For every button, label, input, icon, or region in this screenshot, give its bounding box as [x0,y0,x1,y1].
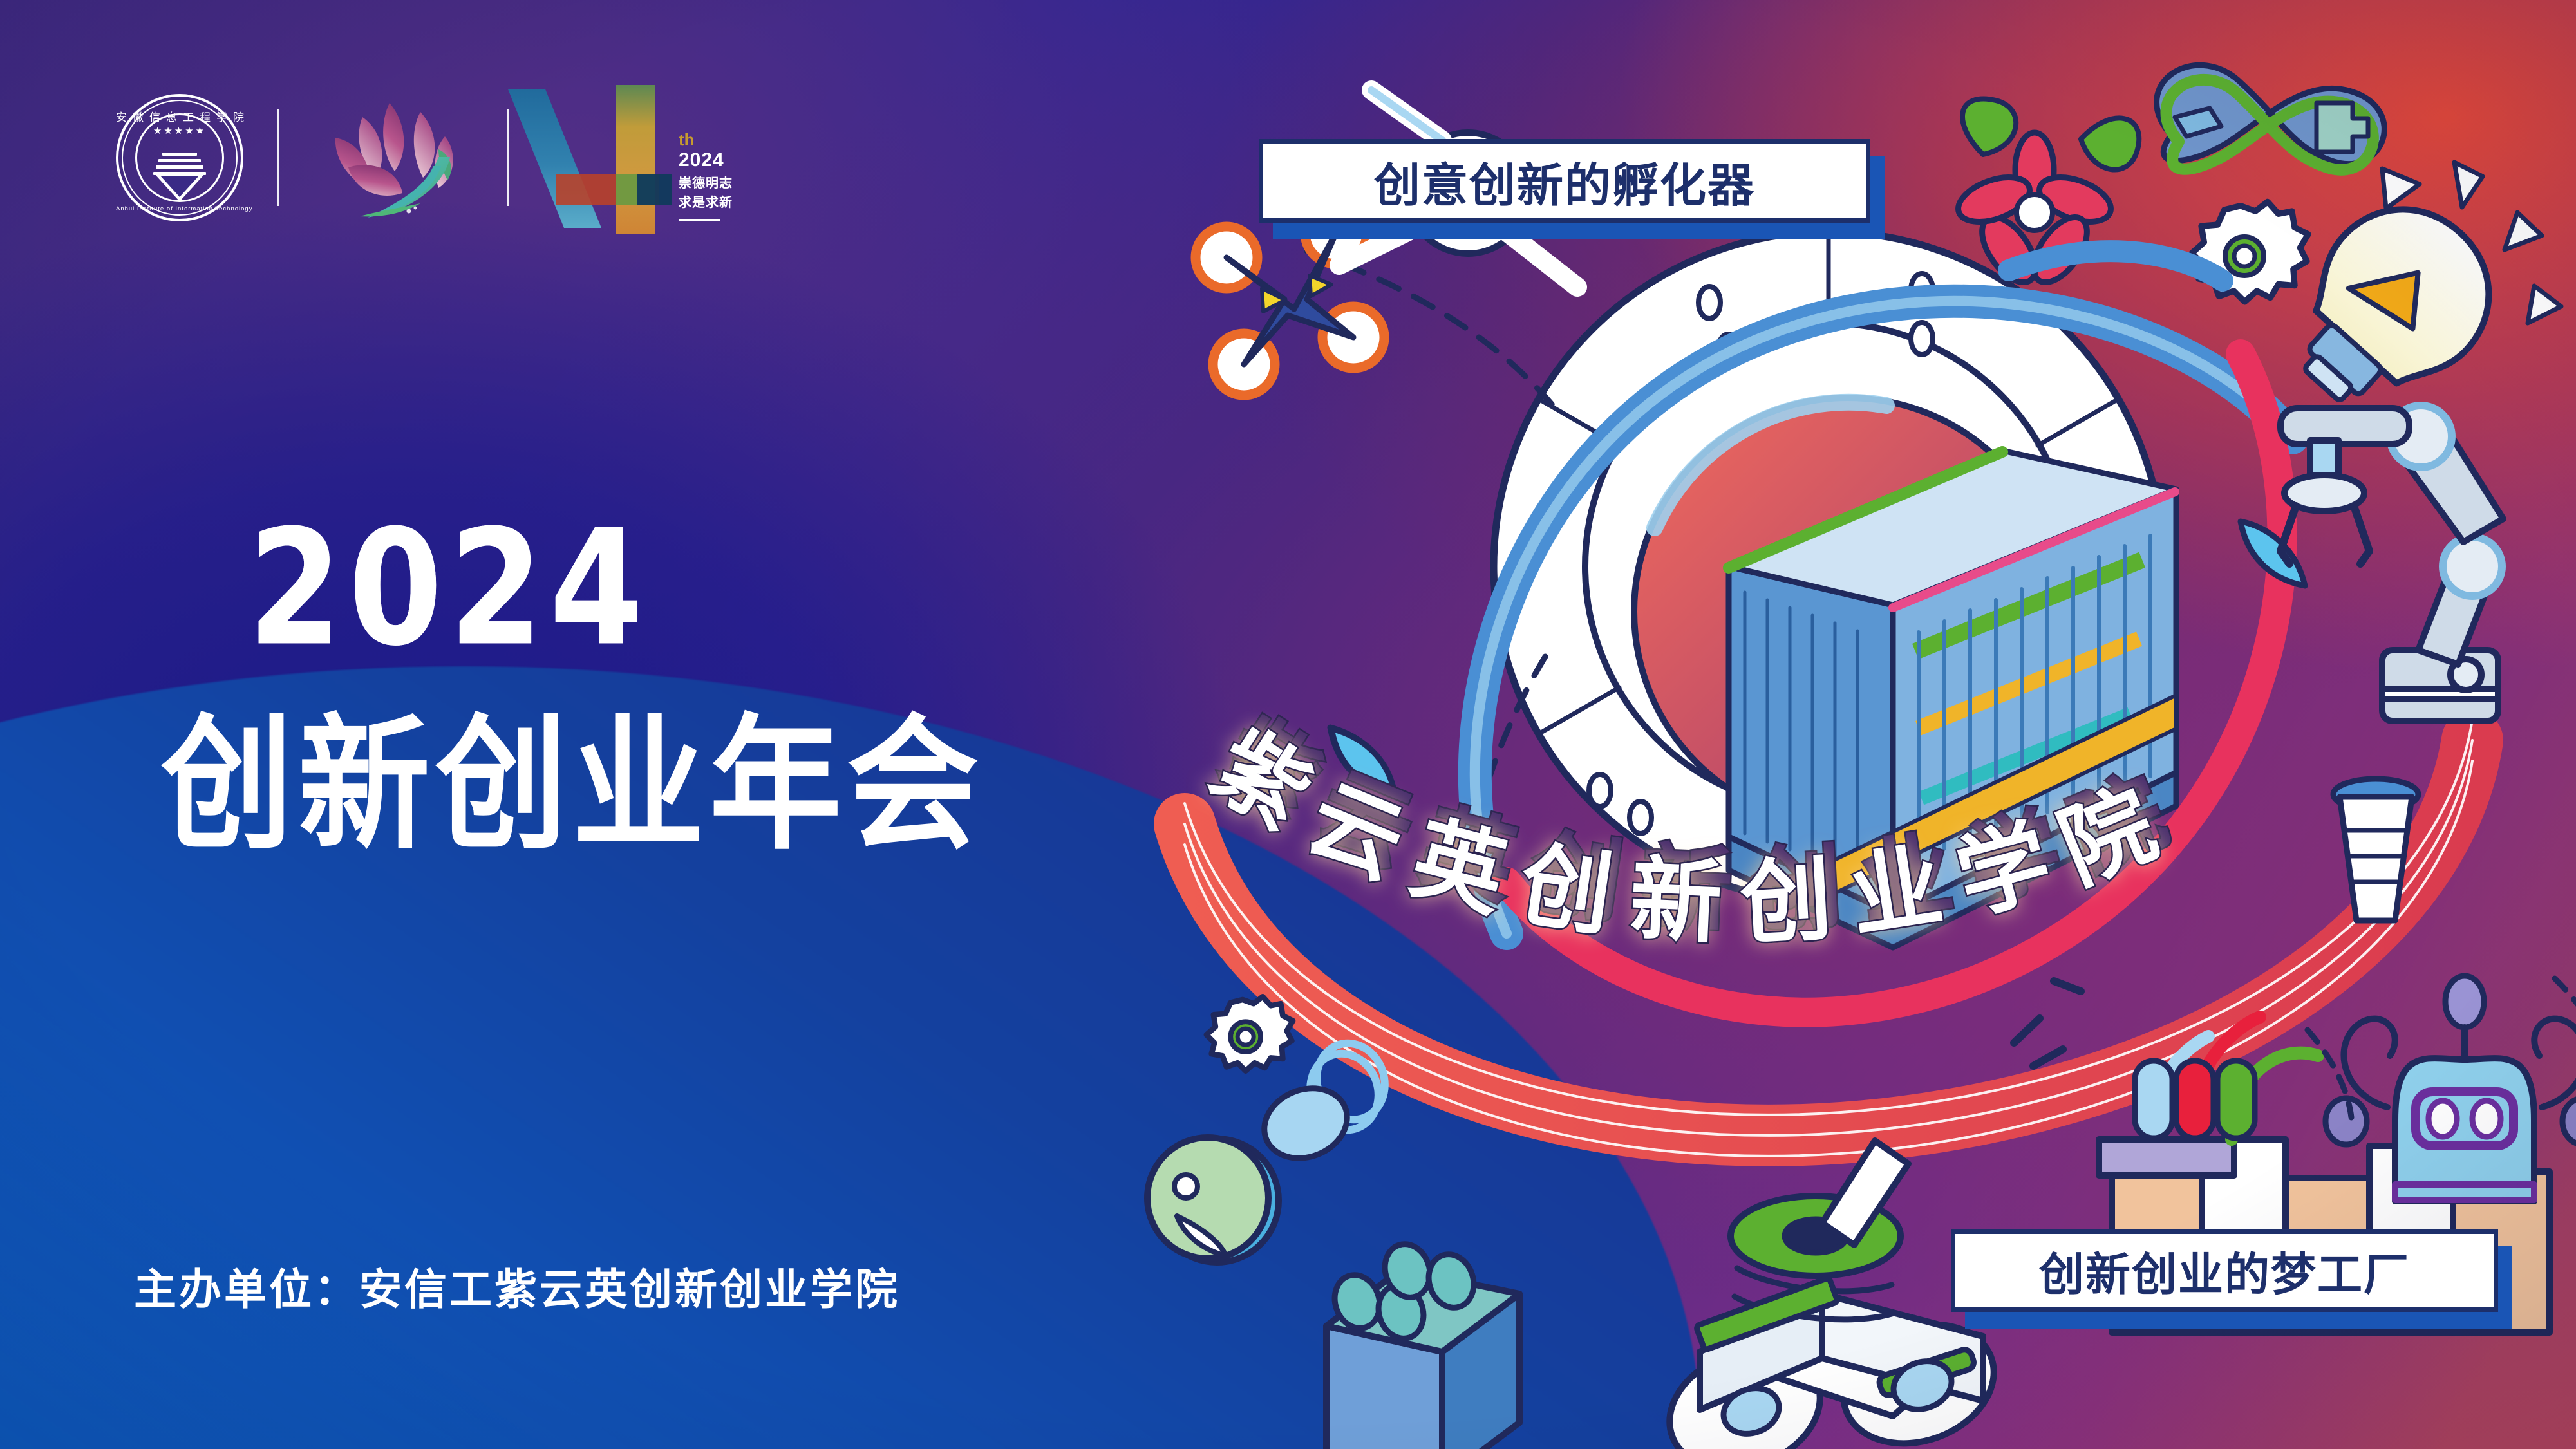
logo-divider-2 [507,109,509,206]
title-year: 2024 [248,515,984,662]
anniversary-logo: th 2024 崇德明志 求是求新 [552,77,681,238]
university-seal-logo: 安徽信息工程学院 ★★★★★ Anhui Institute of Inform… [116,94,243,221]
anniversary-meta: th 2024 崇德明志 求是求新 [679,131,782,221]
numeral-diagonal-block [508,89,601,228]
anniversary-year: 2024 [679,148,782,173]
poster-canvas: 紫云英创新创业学院 紫云英创新创业学院 安徽信息工程学院 ★★★★★ Anhui… [0,0,2576,1449]
motto-underline [679,219,720,221]
badge-incubator: 创意创新的孵化器 [1259,139,1870,223]
numeral-vertical-block [616,85,655,234]
organizer-line: 主办单位：安信工紫云英创新创业学院 [134,1255,900,1317]
motto-line-1: 崇德明志 [679,175,782,192]
badge-dream: 创新创业的梦工厂 [1951,1229,2498,1312]
motto-line-2: 求是求新 [679,194,782,211]
seal-stars: ★★★★★ [116,125,243,136]
seal-chevron-inner [160,176,199,197]
seal-english-name: Anhui Institute of Information Technolog… [116,205,243,212]
logo-divider-1 [277,109,279,206]
badge-incubator-label: 创意创新的孵化器 [1374,147,1755,215]
page-title: 创新创业年会 [161,713,984,859]
main-title-block: 2024 创新创业年会 [161,515,984,845]
header-logos: 安徽信息工程学院 ★★★★★ Anhui Institute of Inform… [116,90,681,225]
badge-dream-label: 创新创业的梦工厂 [2039,1239,2410,1304]
seal-chinese-name: 安徽信息工程学院 [116,108,243,124]
numeral-navy-block [637,174,672,205]
anniversary-ordinal: th [679,131,782,148]
flower-bird-logo [312,90,473,225]
